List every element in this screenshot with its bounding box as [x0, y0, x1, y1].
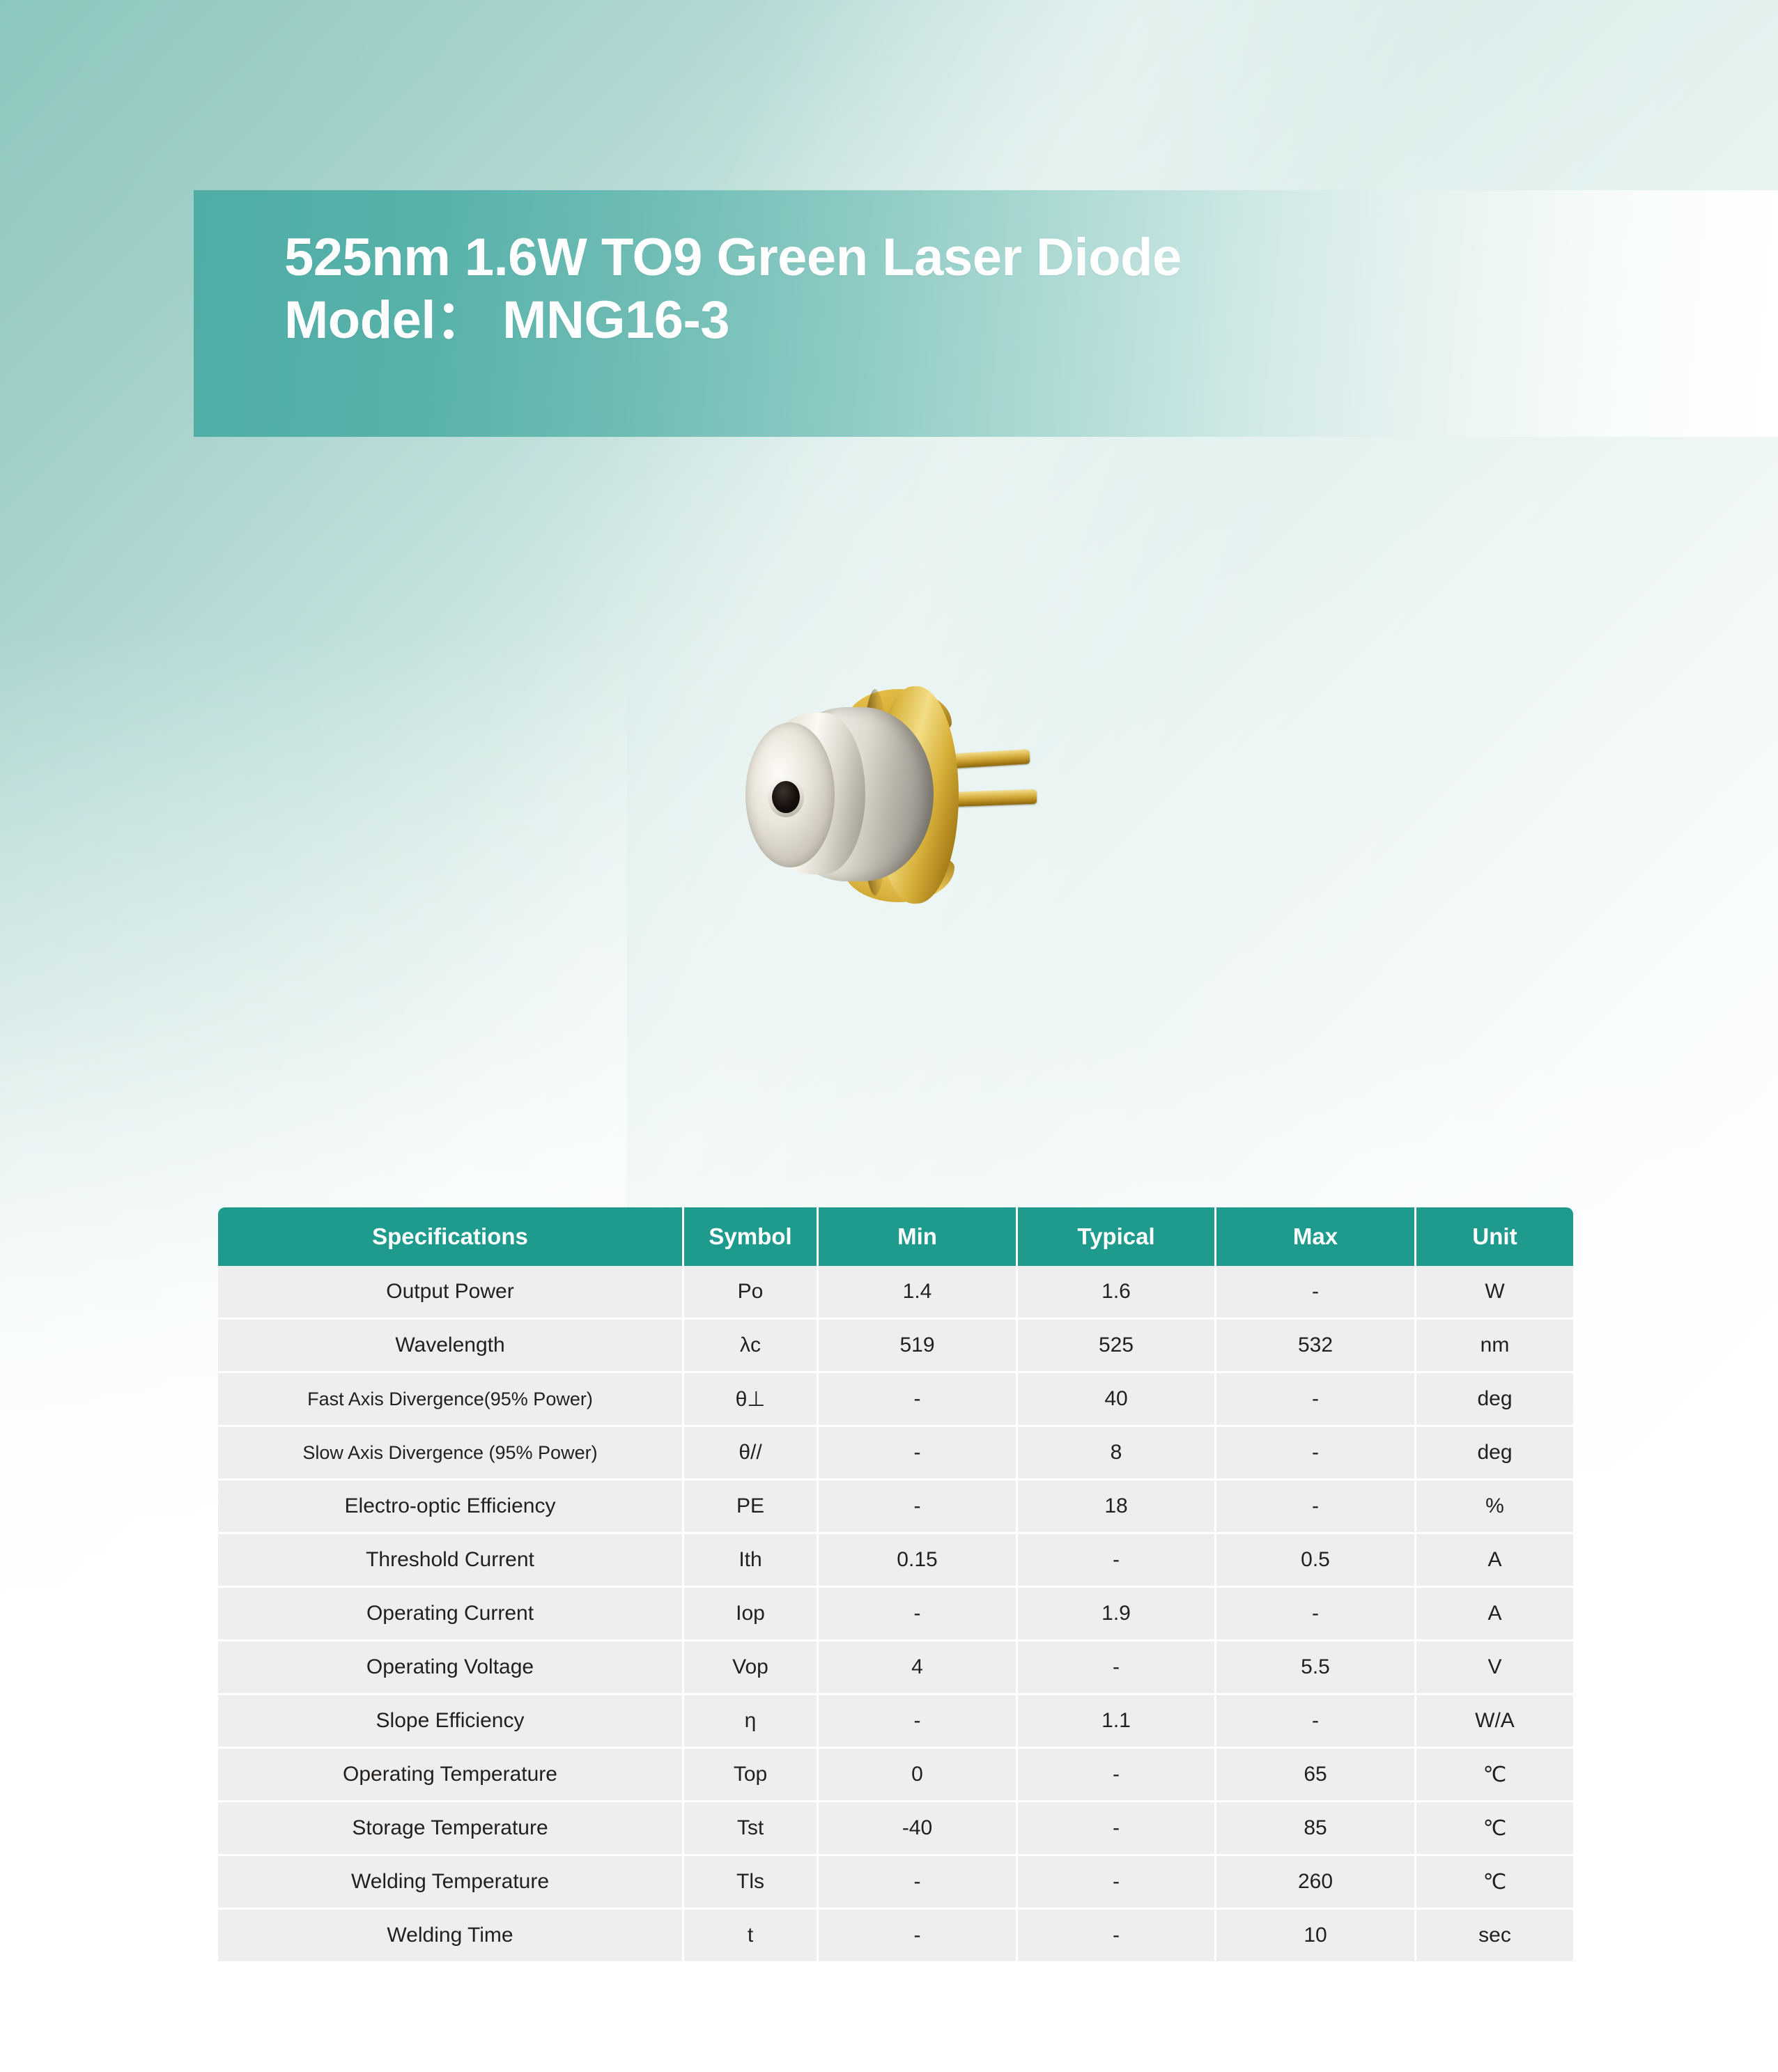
column-header-max: Max [1216, 1207, 1416, 1266]
cell-unit: W/A [1416, 1695, 1573, 1749]
cell-specification: Slope Efficiency [218, 1695, 684, 1749]
cell-min: 0.15 [819, 1534, 1018, 1588]
cell-unit: % [1416, 1480, 1573, 1534]
cell-specification: Threshold Current [218, 1534, 684, 1588]
cell-typical: 1.9 [1018, 1588, 1216, 1641]
cell-symbol: θ// [684, 1427, 819, 1480]
cell-max: 10 [1216, 1910, 1416, 1961]
column-header-symbol: Symbol [684, 1207, 819, 1266]
cell-max: 260 [1216, 1856, 1416, 1910]
cell-typical: - [1018, 1641, 1216, 1695]
cell-specification: Fast Axis Divergence(95% Power) [218, 1373, 684, 1427]
page-title-line-1: 525nm 1.6W TO9 Green Laser Diode [284, 226, 1469, 289]
cell-max: 0.5 [1216, 1534, 1416, 1588]
cell-max: - [1216, 1588, 1416, 1641]
table-row: Threshold CurrentIth0.15-0.5A [218, 1534, 1573, 1588]
cell-unit: ℃ [1416, 1749, 1573, 1802]
table-row: Slope Efficiencyη-1.1-W/A [218, 1695, 1573, 1749]
cell-max: 65 [1216, 1749, 1416, 1802]
page-title: 525nm 1.6W TO9 Green Laser Diode Model： … [284, 226, 1469, 351]
column-header-specifications: Specifications [218, 1207, 684, 1266]
cell-specification: Welding Time [218, 1910, 684, 1961]
column-header-min: Min [819, 1207, 1018, 1266]
diode-pin-2 [948, 789, 1037, 807]
cell-symbol: η [684, 1695, 819, 1749]
cell-max: 532 [1216, 1320, 1416, 1373]
cell-unit: deg [1416, 1427, 1573, 1480]
column-header-unit: Unit [1416, 1207, 1573, 1266]
cell-max: 5.5 [1216, 1641, 1416, 1695]
cell-specification: Storage Temperature [218, 1802, 684, 1856]
cell-unit: ℃ [1416, 1802, 1573, 1856]
table-row: Operating VoltageVop4-5.5V [218, 1641, 1573, 1695]
column-header-typical: Typical [1018, 1207, 1216, 1266]
cell-min: -40 [819, 1802, 1018, 1856]
specifications-table: Specifications Symbol Min Typical Max Un… [218, 1207, 1573, 1961]
cell-typical: 1.6 [1018, 1266, 1216, 1320]
table-header-row: Specifications Symbol Min Typical Max Un… [218, 1207, 1573, 1266]
cell-typical: - [1018, 1910, 1216, 1961]
cell-symbol: PE [684, 1480, 819, 1534]
cell-specification: Operating Current [218, 1588, 684, 1641]
cell-max: - [1216, 1373, 1416, 1427]
cell-max: - [1216, 1266, 1416, 1320]
cell-max: - [1216, 1480, 1416, 1534]
cell-unit: A [1416, 1534, 1573, 1588]
cell-specification: Electro-optic Efficiency [218, 1480, 684, 1534]
cell-symbol: t [684, 1910, 819, 1961]
cell-symbol: Vop [684, 1641, 819, 1695]
table-row: Operating TemperatureTop0-65℃ [218, 1749, 1573, 1802]
cell-min: 4 [819, 1641, 1018, 1695]
cell-symbol: Tst [684, 1802, 819, 1856]
cell-specification: Operating Temperature [218, 1749, 684, 1802]
cell-symbol: Ith [684, 1534, 819, 1588]
table-row: Welding TemperatureTls--260℃ [218, 1856, 1573, 1910]
specifications-table-body: Output PowerPo1.41.6-WWavelengthλc519525… [218, 1266, 1573, 1961]
cell-min: 519 [819, 1320, 1018, 1373]
cell-typical: - [1018, 1856, 1216, 1910]
cell-typical: 40 [1018, 1373, 1216, 1427]
cell-typical: - [1018, 1749, 1216, 1802]
cell-specification: Operating Voltage [218, 1641, 684, 1695]
cell-specification: Wavelength [218, 1320, 684, 1373]
cell-symbol: θ⊥ [684, 1373, 819, 1427]
table-row: Storage TemperatureTst-40-85℃ [218, 1802, 1573, 1856]
cell-typical: 525 [1018, 1320, 1216, 1373]
cell-min: 1.4 [819, 1266, 1018, 1320]
cell-specification: Welding Temperature [218, 1856, 684, 1910]
cell-min: - [819, 1910, 1018, 1961]
table-row: Electro-optic EfficiencyPE-18-% [218, 1480, 1573, 1534]
cell-min: - [819, 1373, 1018, 1427]
cell-unit: V [1416, 1641, 1573, 1695]
diode-aperture-icon [772, 781, 800, 813]
cell-symbol: Tls [684, 1856, 819, 1910]
table-row: Slow Axis Divergence (95% Power)θ//-8-de… [218, 1427, 1573, 1480]
product-image-laser-diode [718, 679, 1045, 930]
cell-min: - [819, 1695, 1018, 1749]
cell-max: 85 [1216, 1802, 1416, 1856]
table-row: Welding Timet--10sec [218, 1910, 1573, 1961]
cell-specification: Slow Axis Divergence (95% Power) [218, 1427, 684, 1480]
cell-min: - [819, 1480, 1018, 1534]
cell-symbol: Top [684, 1749, 819, 1802]
table-row: Output PowerPo1.41.6-W [218, 1266, 1573, 1320]
cell-max: - [1216, 1695, 1416, 1749]
cell-unit: nm [1416, 1320, 1573, 1373]
cell-symbol: Iop [684, 1588, 819, 1641]
page-title-line-2: Model： MNG16-3 [284, 289, 1469, 352]
cell-typical: 8 [1018, 1427, 1216, 1480]
cell-unit: W [1416, 1266, 1573, 1320]
cell-unit: deg [1416, 1373, 1573, 1427]
cell-max: - [1216, 1427, 1416, 1480]
cell-unit: A [1416, 1588, 1573, 1641]
cell-unit: ℃ [1416, 1856, 1573, 1910]
table-row: Fast Axis Divergence(95% Power)θ⊥-40-deg [218, 1373, 1573, 1427]
cell-symbol: Po [684, 1266, 819, 1320]
cell-min: - [819, 1856, 1018, 1910]
cell-min: - [819, 1588, 1018, 1641]
cell-typical: - [1018, 1802, 1216, 1856]
cell-min: - [819, 1427, 1018, 1480]
specifications-table-container: Specifications Symbol Min Typical Max Un… [218, 1207, 1573, 1961]
cell-typical: 18 [1018, 1480, 1216, 1534]
cell-typical: 1.1 [1018, 1695, 1216, 1749]
cell-symbol: λc [684, 1320, 819, 1373]
cell-specification: Output Power [218, 1266, 684, 1320]
table-row: Operating CurrentIop-1.9-A [218, 1588, 1573, 1641]
cell-unit: sec [1416, 1910, 1573, 1961]
cell-min: 0 [819, 1749, 1018, 1802]
cell-typical: - [1018, 1534, 1216, 1588]
table-row: Wavelengthλc519525532nm [218, 1320, 1573, 1373]
